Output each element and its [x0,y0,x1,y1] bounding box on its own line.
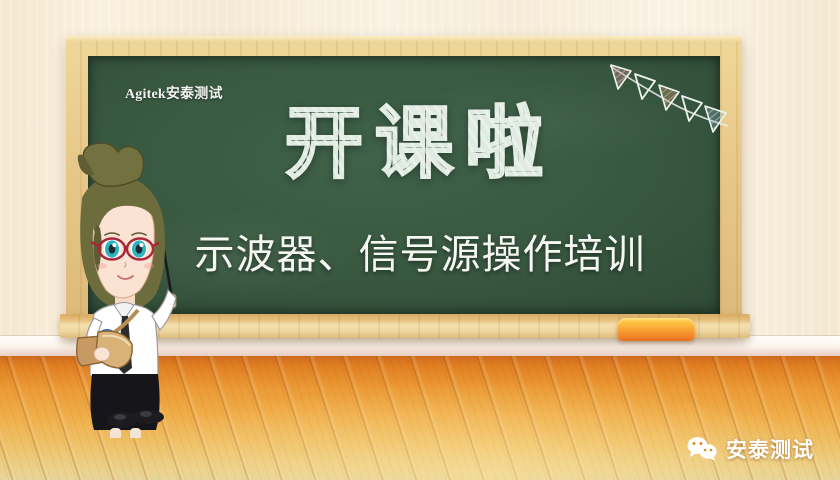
teacher-shoes [100,400,172,432]
blush-right [144,263,154,269]
watermark-text: 安泰测试 [726,434,814,464]
hand-left [94,347,110,361]
wechat-watermark: 安泰测试 [686,434,814,464]
frame-highlight [66,36,742,41]
hair-bun [83,143,143,186]
board-brand-logo: Agitek安泰测试 [125,83,223,103]
blush-left [97,263,107,269]
chalkboard-eraser [617,318,695,341]
eye-left [104,238,121,258]
teacher-illustration [60,138,206,438]
classroom-poster-scene: Agitek安泰测试 开课啦 示波器、信号源操作培训 [0,0,840,480]
wechat-icon [686,436,718,462]
bunting-flag-2 [635,74,655,99]
